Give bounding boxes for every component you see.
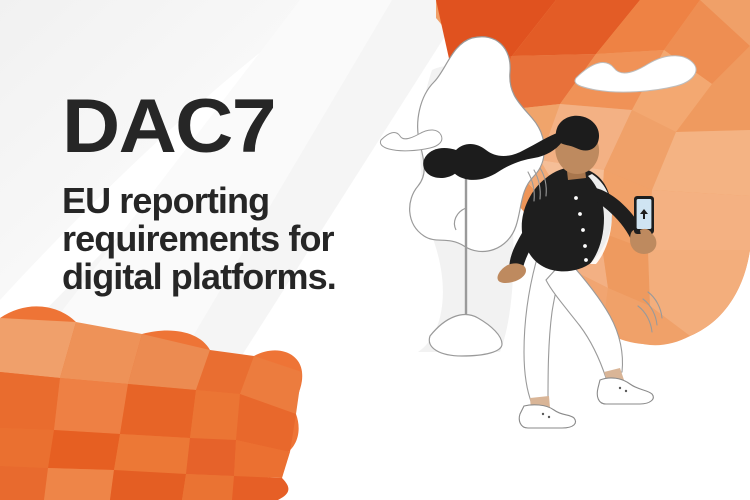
facet [186,438,236,476]
jacket-button [581,228,586,233]
page-title: DAC7 [62,92,444,162]
facet [190,390,240,440]
facet [48,430,120,470]
subtitle-line-3: digital platforms. [62,258,422,296]
jacket-button [584,258,589,263]
jacket-button [578,212,583,217]
subtitle-line-2: requirements for [62,220,422,258]
subtitle: EU reporting requirements for digital pl… [62,182,422,296]
shoe-detail [625,390,627,392]
facet [120,384,196,438]
dac7-banner: DAC7 EU reporting requirements for digit… [0,0,750,500]
shoe-detail [619,387,621,389]
shoe-detail [542,413,544,415]
facet [54,378,128,434]
facet [0,466,48,500]
facet [114,434,190,474]
facet [44,468,114,500]
jacket-button [583,244,588,249]
jacket-button [574,196,579,201]
facet [182,474,234,500]
facet [648,190,750,250]
facet [0,428,54,468]
subtitle-line-1: EU reporting [62,182,422,220]
facet [0,372,60,430]
facet [110,470,186,500]
text-block: DAC7 EU reporting requirements for digit… [62,92,422,296]
smartphone [634,196,654,234]
facet [232,476,288,500]
shoe-detail [548,416,550,418]
